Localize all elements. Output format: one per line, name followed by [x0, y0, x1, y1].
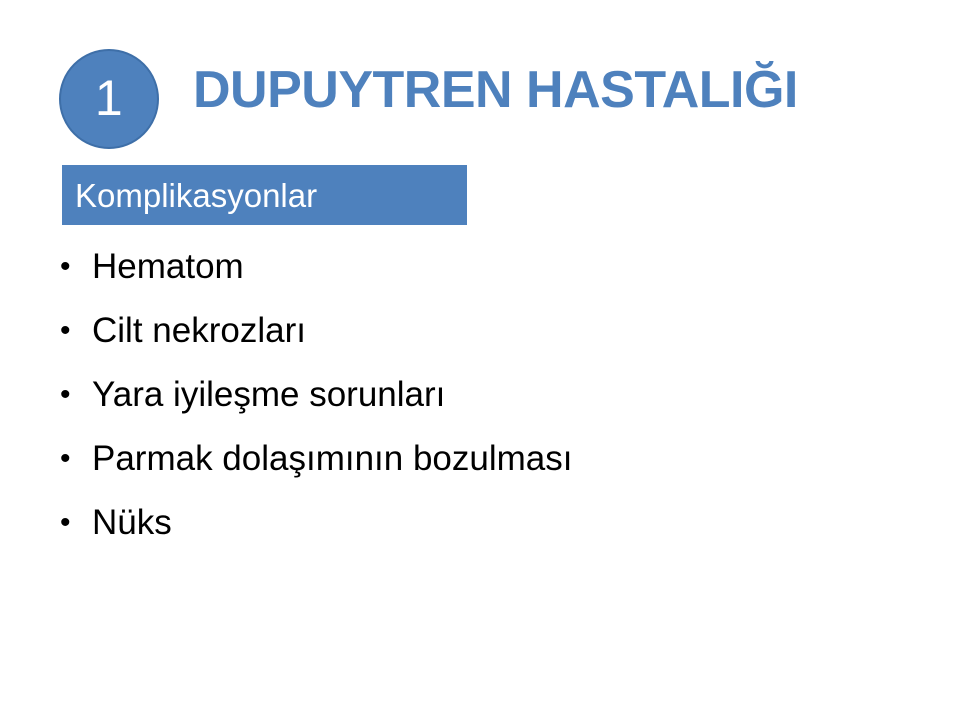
- list-item: • Nüks: [56, 501, 916, 565]
- list-item: • Parmak dolaşımının bozulması: [56, 437, 916, 501]
- page-title: DUPUYTREN HASTALIĞI: [193, 62, 798, 119]
- list-item: • Yara iyileşme sorunları: [56, 373, 916, 437]
- list-item-label: Hematom: [92, 245, 916, 289]
- bullet-point-icon: •: [56, 373, 92, 417]
- slide-number-label: 1: [95, 73, 123, 123]
- slide-number-badge: 1: [59, 49, 159, 149]
- list-item-label: Yara iyileşme sorunları: [92, 373, 916, 417]
- bullet-point-icon: •: [56, 437, 92, 481]
- bullet-point-icon: •: [56, 309, 92, 353]
- bullet-point-icon: •: [56, 245, 92, 289]
- presentation-slide: 1 DUPUYTREN HASTALIĞI Komplikasyonlar • …: [0, 0, 960, 720]
- section-header-label: Komplikasyonlar: [62, 179, 317, 212]
- section-header-band: Komplikasyonlar: [62, 165, 467, 225]
- list-item-label: Parmak dolaşımının bozulması: [92, 437, 916, 481]
- bullet-point-icon: •: [56, 501, 92, 545]
- list-item: • Hematom: [56, 245, 916, 309]
- list-item-label: Cilt nekrozları: [92, 309, 916, 353]
- complications-bullet-list: • Hematom • Cilt nekrozları • Yara iyile…: [56, 245, 916, 565]
- list-item-label: Nüks: [92, 501, 916, 545]
- list-item: • Cilt nekrozları: [56, 309, 916, 373]
